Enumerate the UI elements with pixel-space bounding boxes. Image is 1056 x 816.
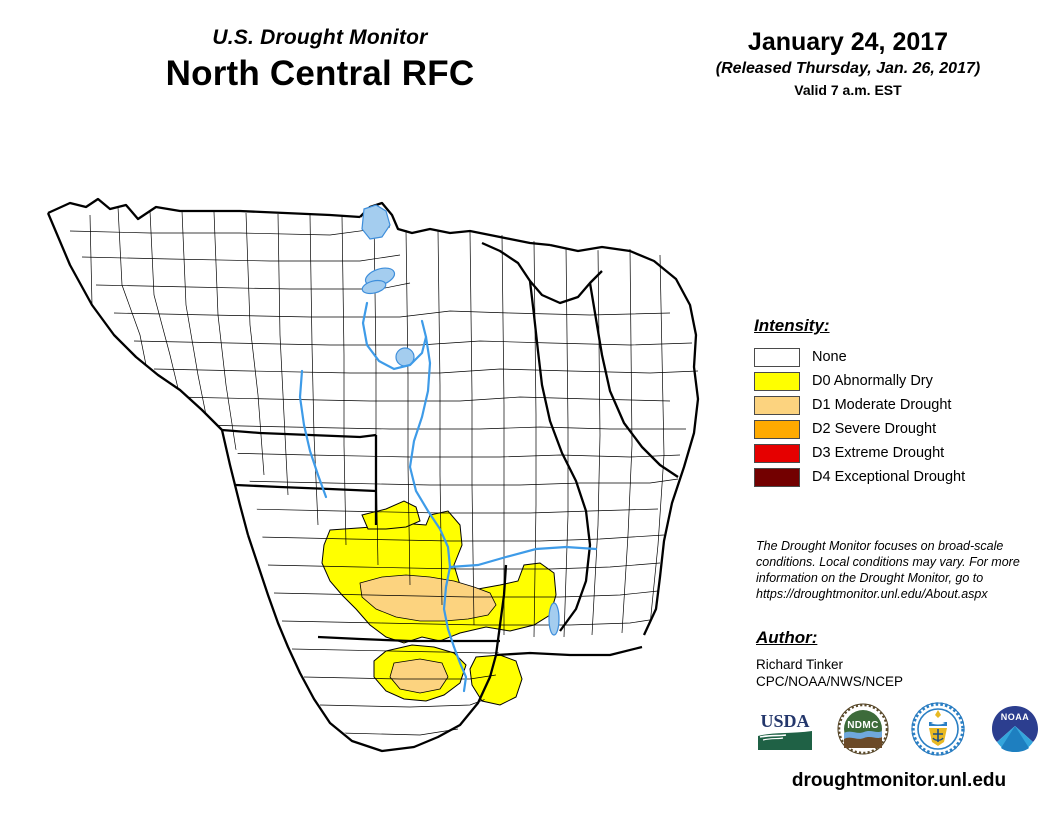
legend-item-none: None	[754, 345, 1044, 369]
author-name: Richard Tinker	[756, 656, 1036, 673]
release-date: (Released Thursday, Jan. 26, 2017)	[640, 60, 1056, 78]
author-heading: Author:	[756, 628, 1036, 648]
legend-swatch-d3	[754, 444, 800, 463]
agency-logos: USDA NDMC	[756, 702, 1042, 760]
legend-swatch-d4	[754, 468, 800, 487]
drought-map	[30, 185, 730, 775]
usdm-subtitle: U.S. Drought Monitor	[0, 26, 640, 50]
author-affiliation: CPC/NOAA/NWS/NCEP	[756, 673, 1036, 690]
disclaimer-line-2: conditions. Local conditions may vary. F…	[756, 554, 1024, 570]
disclaimer-line-3: information on the Drought Monitor, go t…	[756, 570, 1024, 586]
legend-swatch-d1	[754, 396, 800, 415]
legend-swatch-d0	[754, 372, 800, 391]
legend-label-d0: D0 Abnormally Dry	[812, 373, 933, 389]
map-svg	[30, 185, 730, 775]
legend-item-d4: D4 Exceptional Drought	[754, 465, 1044, 489]
svg-text:NDMC: NDMC	[847, 720, 879, 731]
header-right: January 24, 2017 (Released Thursday, Jan…	[640, 28, 1056, 98]
valid-time: Valid 7 a.m. EST	[640, 82, 1056, 98]
usdoc-seal[interactable]	[911, 702, 965, 761]
site-url[interactable]: droughtmonitor.unl.edu	[756, 770, 1042, 792]
legend-label-d3: D3 Extreme Drought	[812, 445, 944, 461]
disclaimer-about-url[interactable]: https://droughtmonitor.unl.edu/About.asp…	[756, 586, 1024, 602]
page-title: North Central RFC	[0, 54, 640, 94]
usda-logo[interactable]: USDA	[756, 706, 814, 757]
legend-label-d2: D2 Severe Drought	[812, 421, 936, 437]
svg-text:USDA: USDA	[760, 711, 809, 731]
legend-item-d1: D1 Moderate Drought	[754, 393, 1044, 417]
disclaimer-text: The Drought Monitor focuses on broad-sca…	[756, 538, 1024, 602]
intensity-legend: Intensity: None D0 Abnormally Dry D1 Mod…	[754, 316, 1044, 489]
legend-label-d4: D4 Exceptional Drought	[812, 469, 965, 485]
header-left: U.S. Drought Monitor North Central RFC	[0, 26, 640, 94]
legend-swatch-none	[754, 348, 800, 367]
legend-item-d0: D0 Abnormally Dry	[754, 369, 1044, 393]
legend-title: Intensity:	[754, 316, 1044, 336]
legend-label-d1: D1 Moderate Drought	[812, 397, 951, 413]
legend-label-none: None	[812, 349, 847, 365]
author-block: Author: Richard Tinker CPC/NOAA/NWS/NCEP	[756, 628, 1036, 690]
map-date: January 24, 2017	[640, 28, 1056, 57]
ndmc-logo[interactable]: NDMC	[837, 703, 889, 760]
svg-text:NOAA: NOAA	[1001, 712, 1030, 722]
legend-item-d3: D3 Extreme Drought	[754, 441, 1044, 465]
noaa-logo[interactable]: NOAA	[988, 703, 1042, 760]
disclaimer-line-1: The Drought Monitor focuses on broad-sca…	[756, 538, 1024, 554]
legend-item-d2: D2 Severe Drought	[754, 417, 1044, 441]
legend-swatch-d2	[754, 420, 800, 439]
